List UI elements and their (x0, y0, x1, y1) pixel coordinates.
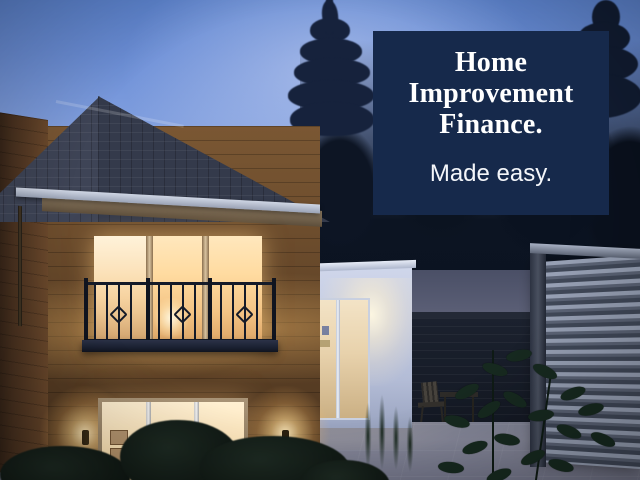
shrub (0, 446, 130, 480)
promo-subheadline: Made easy. (373, 160, 609, 188)
leafy-shrub (432, 330, 622, 480)
advertisement-banner: Home Improvement Finance. Made easy. (0, 0, 640, 480)
railing-ornament (109, 305, 127, 323)
promo-headline: Home Improvement Finance. (373, 47, 609, 140)
promo-headline-line-3: Finance. (373, 109, 609, 140)
promo-text-panel: Home Improvement Finance. Made easy. (373, 31, 609, 215)
railing-ornament (235, 305, 253, 323)
downpipe (18, 206, 22, 326)
railing-top-rail (84, 282, 276, 285)
railing-ornament (173, 305, 191, 323)
promo-headline-line-2: Improvement (373, 78, 609, 109)
foreground-foliage (0, 330, 640, 480)
promo-headline-line-1: Home (373, 47, 609, 78)
